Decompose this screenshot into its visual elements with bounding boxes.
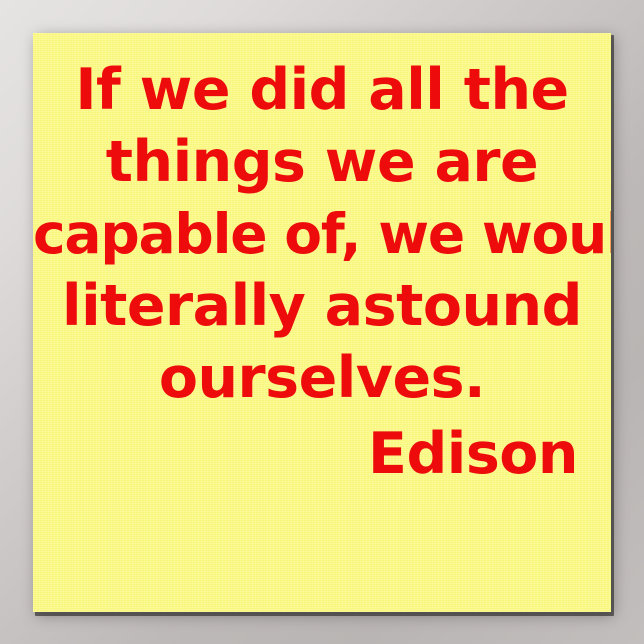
quote-attribution: Edison — [33, 414, 611, 490]
quote-block: If we did all the things we are capable … — [33, 33, 611, 490]
quote-line-1: If we did all the — [33, 54, 611, 126]
poster-scene: If we did all the things we are capable … — [0, 0, 644, 644]
quote-line-2: things we are — [33, 126, 611, 198]
poster-sheet: If we did all the things we are capable … — [33, 33, 611, 612]
quote-line-5: ourselves. — [33, 342, 611, 414]
quote-line-3: capable of, we would — [33, 198, 611, 270]
quote-line-4: literally astound — [33, 270, 611, 342]
